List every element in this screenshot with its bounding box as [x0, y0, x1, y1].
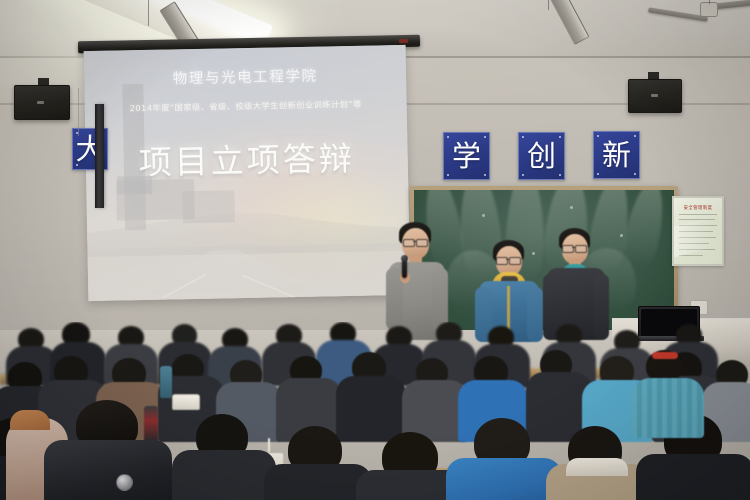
blue-hoodie [446, 458, 562, 500]
thermos [144, 406, 158, 442]
projection-screen: 物理与光电工程学院 2014年度“国家级、省级、校级大学生创新创业训练计划”等 … [84, 45, 411, 301]
banner-char-4: 新 [602, 141, 631, 170]
presenter-left-arm [432, 268, 448, 330]
red-hair-tie [652, 352, 678, 359]
wall-speaker-right-icon [628, 79, 682, 113]
fur-collar [566, 458, 628, 476]
water-bottle [160, 366, 172, 398]
teal-quilted-jacket [632, 378, 704, 438]
presenter-middle-glasses-icon [509, 257, 521, 265]
slide-title-text: 项目立项答辩 [85, 131, 408, 185]
fixture-wire [148, 0, 149, 26]
speaker-logo [651, 94, 658, 97]
speaker-logo [37, 101, 44, 104]
banner-plaque-4: 新 [593, 131, 640, 179]
microphone-icon [402, 259, 407, 278]
screen-indicator-light [399, 39, 408, 43]
wall-column [95, 104, 104, 208]
banner-plaque-3: 创 [518, 132, 565, 180]
ceiling-fan-hub-icon [700, 2, 718, 17]
fan-rod [709, 0, 710, 4]
safety-notice-poster: 安全管理制度 [672, 196, 724, 266]
fixture-wire [548, 0, 549, 10]
wall-speaker-left-icon [14, 85, 70, 120]
classroom-presentation-photo: 物理与光电工程学院 2014年度“国家级、省级、校级大学生创新创业训练计划”等 … [0, 0, 750, 500]
presenter-left-glasses-icon [416, 239, 428, 247]
jacket-logo-badge [116, 474, 133, 491]
banner-char-3: 创 [527, 142, 556, 171]
speaker-wire [78, 88, 79, 136]
audience [0, 322, 750, 500]
notebook [172, 394, 200, 410]
banner-char-2: 学 [452, 142, 481, 171]
banner-plaque-2: 学 [443, 132, 490, 180]
poster-title: 安全管理制度 [674, 205, 722, 211]
presenter-right-glasses-icon [575, 245, 587, 253]
